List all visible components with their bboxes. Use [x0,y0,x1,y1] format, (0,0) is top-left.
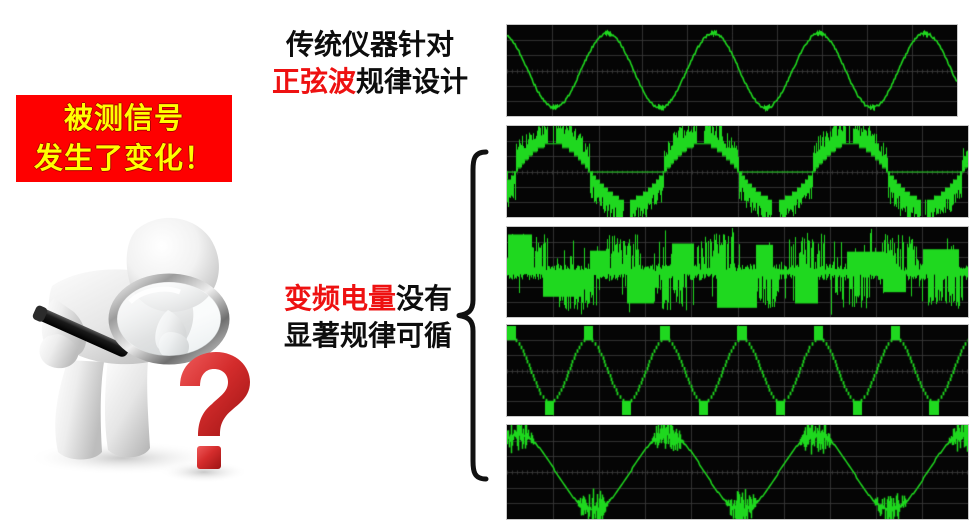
scope-canvas-chaotic-burst [507,227,968,317]
scope-canvas-pwm-stepped-sine [507,126,968,217]
caption-top-rest: 规律设计 [356,66,468,97]
slide-canvas: 被测信号 发生了变化！ [0,0,969,529]
scope-panel-rippled-sine [506,424,969,520]
caption-bottom-rest: 没有 [396,283,452,314]
alert-line-2: 发生了变化！ [34,139,214,179]
person-with-magnifier-illustration: ? [8,190,298,520]
alert-banner: 被测信号 发生了变化！ [16,95,232,182]
scope-panel-staircase-square [506,324,969,417]
figure-leg-right [105,358,150,457]
caption-top-line2: 正弦波规律设计 [264,63,476,100]
caption-bottom-line2: 显著规律可循 [262,317,474,354]
caption-bottom-highlight: 变频电量 [284,283,396,314]
caption-bottom: 变频电量没有 显著规律可循 [262,280,474,354]
scope-canvas-staircase-square [507,325,968,416]
caption-bottom-line1: 变频电量没有 [262,280,474,317]
caption-top-line1: 传统仪器针对 [264,26,476,63]
caption-top-highlight: 正弦波 [272,66,356,97]
figure-leg-left [55,360,104,460]
scope-panel-clean-sine [506,24,958,117]
grouping-brace [452,148,492,483]
scope-panel-chaotic-burst [506,226,969,318]
scope-panel-pwm-stepped-sine [506,125,969,218]
alert-line-1: 被测信号 [64,99,184,139]
magnifier-lens [113,278,225,360]
caption-top: 传统仪器针对 正弦波规律设计 [264,26,476,100]
scope-canvas-rippled-sine [507,425,968,519]
scope-canvas-clean-sine [507,25,957,116]
